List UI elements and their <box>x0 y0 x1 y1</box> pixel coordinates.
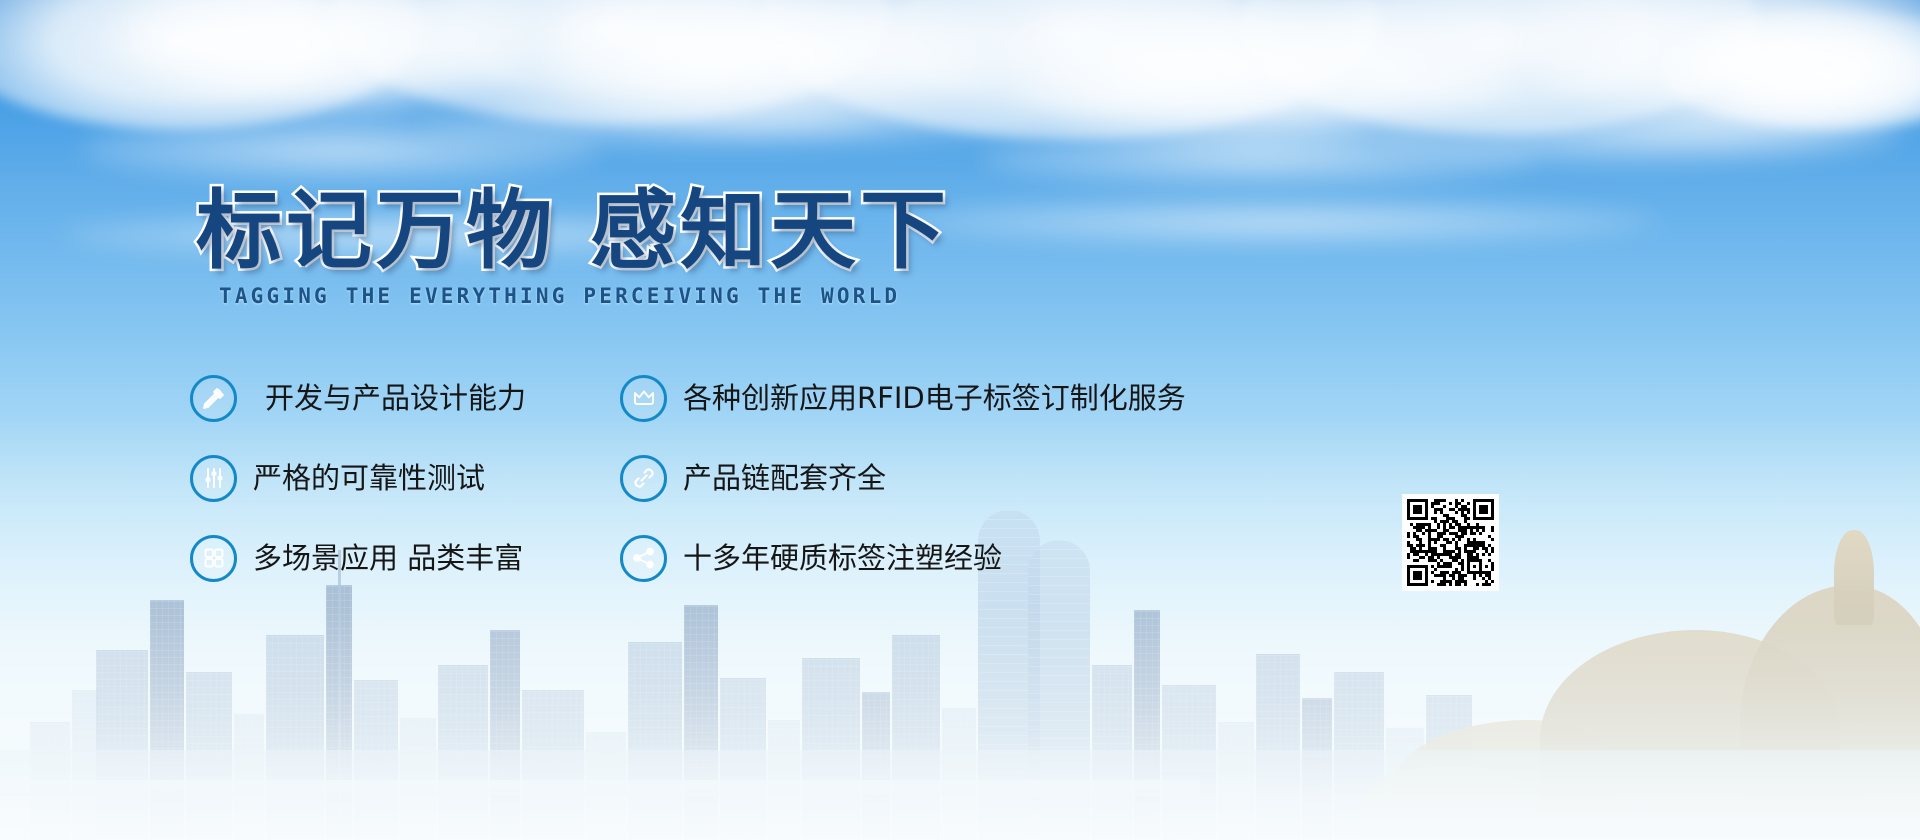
crown-icon <box>620 375 667 422</box>
feature-item-rfid-service[interactable]: 各种创新应用RFID电子标签订制化服务 <box>620 375 1260 422</box>
sliders-icon <box>190 455 237 502</box>
feature-row: 开发与产品设计能力 各种创新应用RFID电子标签订制化服务 <box>190 358 1310 438</box>
link-icon <box>620 455 667 502</box>
feature-item-scenarios[interactable]: 多场景应用 品类丰富 <box>190 535 620 582</box>
feature-label: 产品链配套齐全 <box>683 464 886 493</box>
qr-code[interactable] <box>1403 495 1498 590</box>
feature-list: 开发与产品设计能力 各种创新应用RFID电子标签订制化服务 <box>190 358 1310 598</box>
feature-label: 十多年硬质标签注塑经验 <box>683 544 1002 573</box>
feature-label: 严格的可靠性测试 <box>253 464 485 493</box>
grid-squares-icon <box>190 535 237 582</box>
feature-item-design[interactable]: 开发与产品设计能力 <box>190 375 620 422</box>
feature-row: 多场景应用 品类丰富 <box>190 518 1310 598</box>
feature-item-molding-experience[interactable]: 十多年硬质标签注塑经验 <box>620 535 1260 582</box>
share-nodes-icon <box>620 535 667 582</box>
headline: 标记万物 感知天下 <box>196 160 950 285</box>
subheadline: TAGGING THE EVERYTHING PERCEIVING THE WO… <box>219 284 900 308</box>
feature-row: 严格的可靠性测试 产品链配套齐全 <box>190 438 1310 518</box>
feature-label: 多场景应用 品类丰富 <box>253 544 523 573</box>
feature-item-supply-chain[interactable]: 产品链配套齐全 <box>620 455 1260 502</box>
pencil-ruler-icon <box>190 375 237 422</box>
feature-item-reliability-test[interactable]: 严格的可靠性测试 <box>190 455 620 502</box>
banner-content: 标记万物 感知天下 TAGGING THE EVERYTHING PERCEIV… <box>0 0 1920 840</box>
feature-label: 开发与产品设计能力 <box>265 384 526 413</box>
promo-banner: 标记万物 感知天下 TAGGING THE EVERYTHING PERCEIV… <box>0 0 1920 840</box>
feature-label: 各种创新应用RFID电子标签订制化服务 <box>683 384 1186 413</box>
